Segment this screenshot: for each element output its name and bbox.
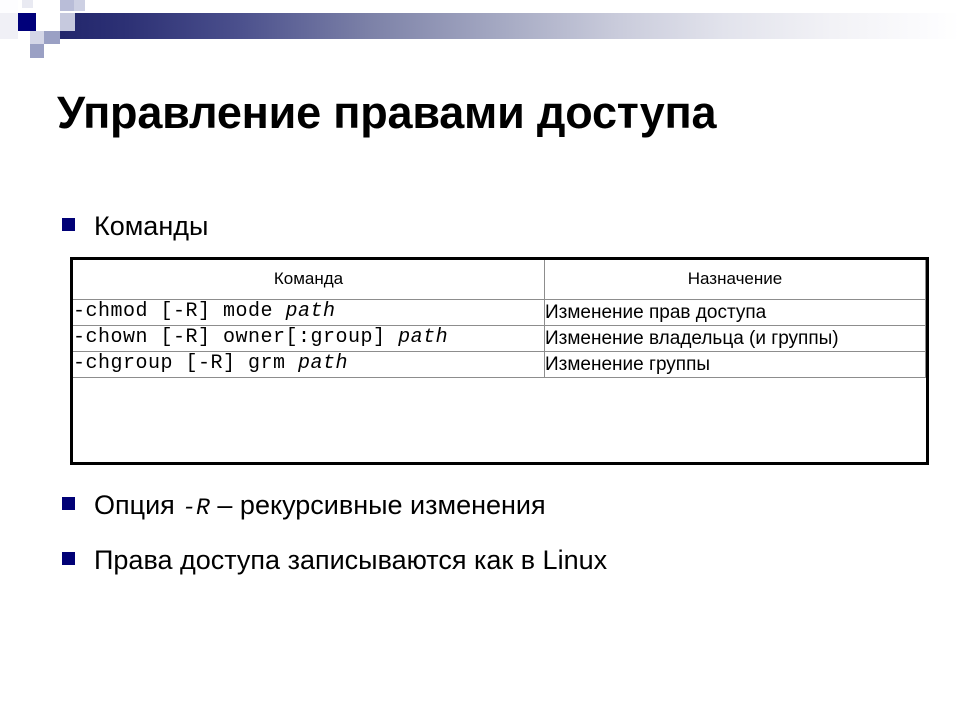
table-row: -chown [-R] owner[:group] pathИзменение … xyxy=(73,326,926,352)
bullet-label-rights: Права доступа записываются как в Linux xyxy=(94,544,607,576)
option-prefix-text: Опция xyxy=(94,490,182,520)
table-cell-command: -chgroup [-R] grm path xyxy=(73,352,545,378)
bullet-square-icon xyxy=(62,552,75,565)
bullet-item-commands: Команды xyxy=(62,210,208,242)
mosaic-square xyxy=(18,13,36,31)
mosaic-square xyxy=(22,0,33,8)
command-text: -chown [-R] owner[:group] xyxy=(73,326,398,349)
slide-header-decoration xyxy=(0,0,960,66)
bullet-item-rights: Права доступа записываются как в Linux xyxy=(62,544,607,576)
table-cell-command: -chmod [-R] mode path xyxy=(73,300,545,326)
mosaic-square xyxy=(41,0,52,8)
table-header-purpose: Назначение xyxy=(545,260,926,300)
mosaic-square xyxy=(0,0,18,13)
option-flag-text: -R xyxy=(182,495,210,521)
mosaic-square xyxy=(43,13,60,31)
table-cell-command: -chown [-R] owner[:group] path xyxy=(73,326,545,352)
command-text: -chgroup [-R] grm xyxy=(73,352,298,375)
mosaic-square xyxy=(44,31,60,44)
table-row: -chmod [-R] mode pathИзменение прав дост… xyxy=(73,300,926,326)
mosaic-square xyxy=(60,0,74,11)
bullet-square-icon xyxy=(62,497,75,510)
command-argument-text: path xyxy=(298,352,348,375)
mosaic-square xyxy=(30,31,44,44)
mosaic-square xyxy=(0,13,18,39)
page-title: Управление правами доступа xyxy=(57,86,917,140)
mosaic-square xyxy=(60,13,75,31)
table-header-command-label: Команда xyxy=(73,260,544,299)
command-argument-text: path xyxy=(398,326,448,349)
table-header-purpose-label: Назначение xyxy=(545,260,925,299)
table-header-command: Команда xyxy=(73,260,545,300)
header-gradient-bar xyxy=(55,13,960,39)
table-cell-description: Изменение прав доступа xyxy=(545,300,926,326)
commands-table: Команда Назначение -chmod [-R] mode path… xyxy=(72,259,926,378)
table-cell-description: Изменение владельца (и группы) xyxy=(545,326,926,352)
table-cell-description: Изменение группы xyxy=(545,352,926,378)
option-suffix-text: – рекурсивные изменения xyxy=(210,490,546,520)
table-row: -chgroup [-R] grm pathИзменение группы xyxy=(73,352,926,378)
command-argument-text: path xyxy=(286,300,336,323)
table-header-row: Команда Назначение xyxy=(73,260,926,300)
bullet-square-icon xyxy=(62,218,75,231)
bullet-label-option: Опция -R – рекурсивные изменения xyxy=(94,489,546,524)
bullet-label-commands: Команды xyxy=(94,210,208,242)
bullet-item-option: Опция -R – рекурсивные изменения xyxy=(62,489,546,524)
mosaic-square xyxy=(30,44,44,58)
mosaic-square xyxy=(74,0,85,11)
command-text: -chmod [-R] mode xyxy=(73,300,286,323)
